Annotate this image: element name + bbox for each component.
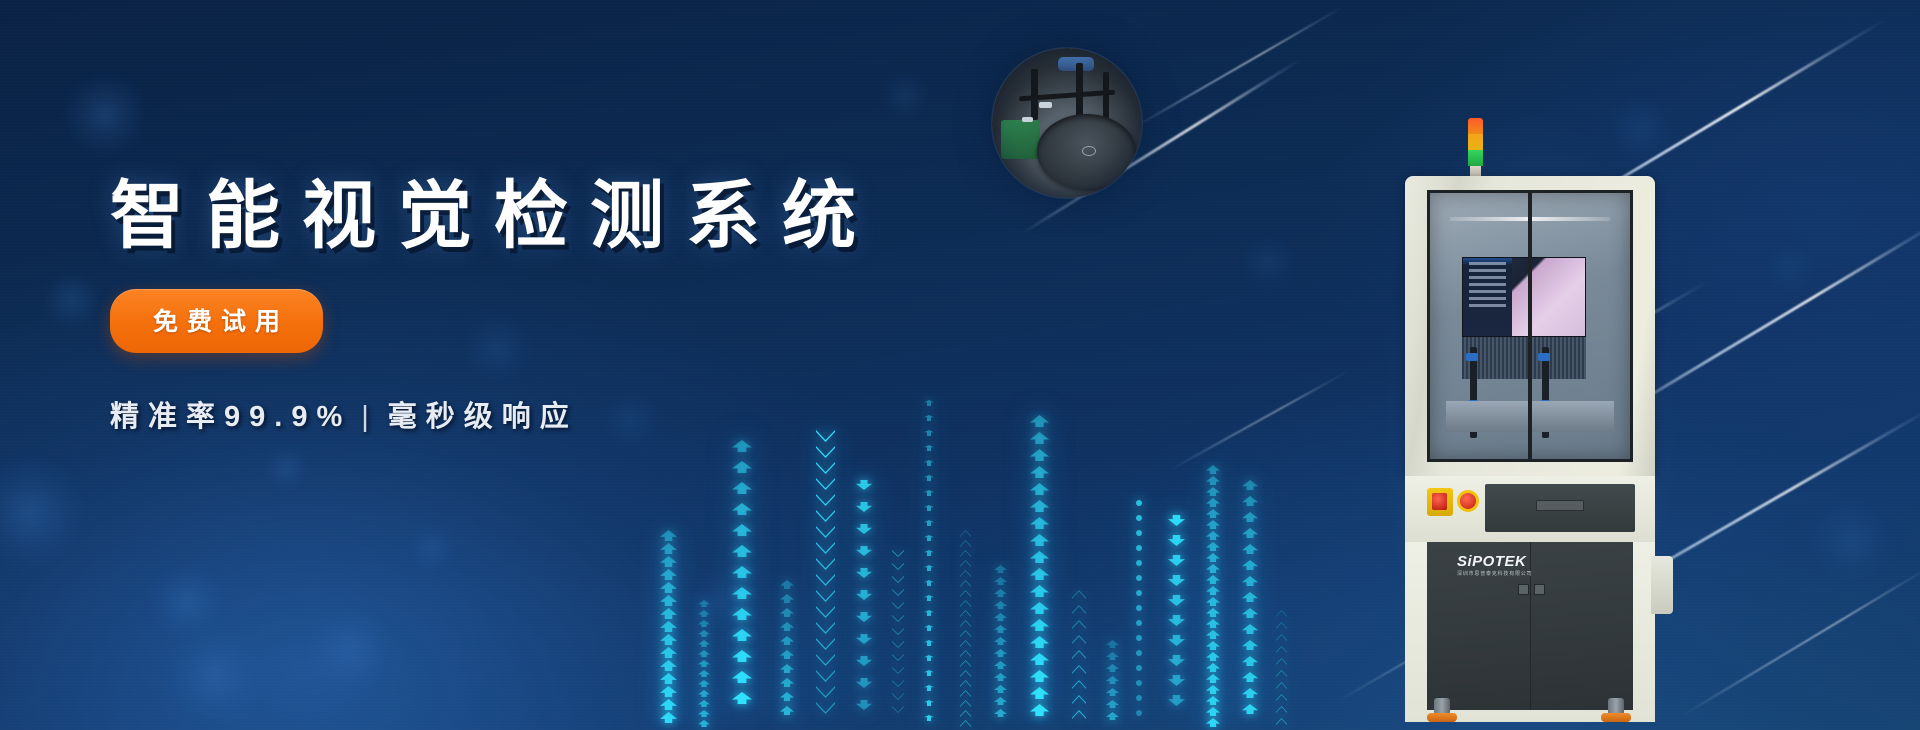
arrow-glyph [780, 608, 794, 617]
arrow-glyph [660, 530, 677, 541]
arrow-glyph [1242, 672, 1258, 682]
response-feature: 毫秒级响应 [388, 401, 578, 433]
arrow-glyph [1106, 664, 1119, 672]
arrow-glyph [1030, 432, 1049, 444]
arrow-glyph [816, 526, 835, 538]
control-panel [1405, 476, 1655, 542]
arrow-glyph [816, 478, 835, 490]
arrow-glyph [1206, 696, 1220, 705]
arrow-glyph [732, 587, 752, 599]
arrow-glyph [924, 655, 934, 661]
machine-cabinet: SiPOTEK 深圳市思普泰克科技有限公司 [1405, 542, 1655, 722]
tower-light-amber [1468, 134, 1483, 150]
machine-upper-frame [1405, 176, 1655, 476]
arrow-glyph [960, 570, 971, 577]
arrow-glyph [960, 690, 971, 697]
arrow-glyph [1206, 553, 1220, 562]
arrow-glyph [1106, 652, 1119, 660]
arrow-glyph [698, 600, 710, 607]
arrow-glyph [892, 641, 904, 648]
arrow-glyph [732, 482, 752, 494]
inset-vignette [992, 48, 1142, 198]
arrow-glyph [856, 480, 872, 490]
arrow-glyph [780, 678, 794, 687]
arrow-glyph [1030, 602, 1049, 614]
arrow-column [816, 430, 835, 730]
arrow-glyph [1242, 704, 1258, 714]
arrow-glyph [816, 574, 835, 586]
arrow-glyph [1276, 706, 1287, 713]
arrow-glyph [924, 610, 934, 616]
bokeh-dot [162, 624, 266, 728]
arrow-glyph [994, 565, 1007, 573]
arrow-glyph [856, 656, 872, 666]
door-handle-right[interactable] [1534, 584, 1545, 595]
arrow-glyph [892, 615, 904, 622]
arrow-glyph [960, 610, 971, 617]
dot-marker [1136, 680, 1142, 686]
arrow-glyph [816, 702, 835, 714]
arrow-glyph [1276, 718, 1287, 725]
arrow-glyph [698, 620, 710, 627]
arrow-glyph [780, 580, 794, 589]
arrow-column [892, 550, 904, 730]
arrow-glyph [732, 524, 752, 536]
arrow-glyph [960, 670, 971, 677]
arrow-glyph [698, 650, 710, 657]
arrow-column [1276, 610, 1287, 730]
arrow-glyph [924, 595, 934, 601]
arrow-column [856, 480, 872, 730]
arrow-glyph [1168, 535, 1185, 546]
arrow-glyph [698, 700, 710, 707]
arrow-glyph [856, 568, 872, 578]
arrow-glyph [1206, 564, 1220, 573]
arrow-glyph [1206, 586, 1220, 595]
arrow-glyph [732, 566, 752, 578]
arrow-glyph [816, 622, 835, 634]
dot-marker [1136, 620, 1142, 626]
arrow-glyph [660, 660, 677, 671]
arrow-glyph [780, 650, 794, 659]
arrow-glyph [892, 550, 904, 557]
arrow-glyph [780, 692, 794, 701]
arrow-glyph [1276, 670, 1287, 677]
arrow-glyph [960, 710, 971, 717]
arrow-glyph [660, 543, 677, 554]
arrow-glyph [732, 692, 752, 704]
arrow-glyph [1106, 700, 1119, 708]
arrow-glyph [1072, 695, 1086, 704]
arrow-glyph [994, 613, 1007, 621]
arrow-glyph [924, 700, 934, 706]
dot-marker [1136, 635, 1142, 641]
dot-marker [1136, 500, 1142, 506]
accuracy-metric: 精准率99.9% [110, 401, 351, 433]
arrow-glyph [960, 680, 971, 687]
arrow-glyph [732, 545, 752, 557]
dot-marker [1136, 605, 1142, 611]
arrow-glyph [960, 720, 971, 727]
bokeh-dot [148, 562, 228, 642]
arrow-glyph [1206, 608, 1220, 617]
arrow-glyph [960, 620, 971, 627]
light-streak [1679, 562, 1920, 719]
arrow-glyph [1030, 449, 1049, 461]
arrow-glyph [1206, 619, 1220, 628]
arrow-glyph [698, 720, 710, 727]
arrow-glyph [1242, 640, 1258, 650]
arrow-glyph [892, 667, 904, 674]
tower-light-red [1468, 118, 1483, 134]
arrow-glyph [924, 475, 934, 481]
arrow-glyph [1242, 544, 1258, 554]
arrow-glyph [660, 647, 677, 658]
arrow-glyph [856, 678, 872, 688]
foot-pad-left [1427, 713, 1457, 722]
arrow-glyph [892, 563, 904, 570]
dot-marker [1136, 650, 1142, 656]
arrow-glyph [780, 636, 794, 645]
arrow-glyph [816, 686, 835, 698]
arrow-glyph [960, 580, 971, 587]
arrow-glyph [1206, 652, 1220, 661]
arrow-glyph [1242, 688, 1258, 698]
arrow-glyph [816, 654, 835, 666]
arrow-glyph [698, 640, 710, 647]
arrow-glyph [1168, 595, 1185, 606]
arrow-glyph [1242, 528, 1258, 538]
camera-mount-right [1538, 353, 1550, 361]
arrow-glyph [1276, 622, 1287, 629]
dot-marker [1136, 560, 1142, 566]
arrow-glyph [892, 589, 904, 596]
window-mullion [1528, 193, 1532, 459]
arrow-glyph [816, 558, 835, 570]
arrow-glyph [1072, 665, 1086, 674]
arrow-glyph [924, 670, 934, 676]
free-trial-button[interactable]: 免费试用 [110, 289, 323, 353]
control-rack [1462, 337, 1586, 380]
arrow-glyph [1072, 680, 1086, 689]
arrow-glyph [1030, 517, 1049, 529]
arrow-glyph [1168, 515, 1185, 526]
arrow-glyph [660, 595, 677, 606]
light-streak [1168, 368, 1353, 472]
arrow-glyph [780, 622, 794, 631]
arrow-glyph [924, 430, 934, 436]
arrow-column [1206, 465, 1220, 730]
arrow-glyph [960, 630, 971, 637]
arrow-glyph [924, 490, 934, 496]
arrow-glyph [732, 461, 752, 473]
arrow-glyph [1206, 476, 1220, 485]
arrow-glyph [856, 546, 872, 556]
arrow-column [924, 400, 934, 730]
arrow-glyph [960, 550, 971, 557]
arrow-glyph [994, 649, 1007, 657]
arrow-glyph [1072, 590, 1086, 599]
arrow-glyph [1206, 498, 1220, 507]
arrow-glyph [660, 621, 677, 632]
arrow-glyph [660, 699, 677, 710]
arrow-glyph [924, 625, 934, 631]
arrow-glyph [1030, 551, 1049, 563]
arrow-glyph [924, 535, 934, 541]
arrow-glyph [856, 612, 872, 622]
arrow-glyph [960, 540, 971, 547]
foot-pad-right [1601, 713, 1631, 722]
arrow-glyph [1206, 663, 1220, 672]
arrow-glyph [892, 706, 904, 713]
arrow-glyph [1206, 520, 1220, 529]
arrow-glyph [924, 580, 934, 586]
dot-marker [1136, 695, 1142, 701]
arrow-column [660, 530, 677, 730]
arrow-column [1242, 480, 1258, 730]
arrow-glyph [1030, 670, 1049, 682]
dot-marker [1136, 590, 1142, 596]
arrow-glyph [1030, 415, 1049, 427]
arrow-glyph [994, 625, 1007, 633]
reset-button-box[interactable] [1427, 488, 1453, 516]
arrow-glyph [1276, 658, 1287, 665]
bokeh-dot [1808, 496, 1896, 584]
brand-logo-subtitle: 深圳市思普泰克科技有限公司 [1457, 570, 1532, 577]
bokeh-dot [1764, 242, 1816, 294]
arrow-glyph [994, 685, 1007, 693]
emergency-stop-button[interactable] [1457, 490, 1479, 512]
arrow-glyph [994, 637, 1007, 645]
hmi-monitor [1462, 257, 1586, 337]
arrow-glyph [1206, 641, 1220, 650]
arrow-glyph [856, 590, 872, 600]
arrow-glyph [780, 594, 794, 603]
arrow-column [960, 530, 971, 730]
side-access-tab [1651, 556, 1673, 614]
bokeh-dot [63, 73, 147, 157]
arrow-glyph [1276, 634, 1287, 641]
dot-marker [1136, 710, 1142, 716]
arrow-glyph [1168, 555, 1185, 566]
door-handle-left[interactable] [1518, 584, 1529, 595]
bokeh-dot [0, 454, 88, 570]
arrow-glyph [960, 650, 971, 657]
arrow-glyph [892, 576, 904, 583]
brand-logo: SiPOTEK [1457, 553, 1526, 570]
door-split-line [1530, 542, 1531, 710]
arrow-glyph [732, 650, 752, 662]
arrow-glyph [732, 608, 752, 620]
panel-faceplate [1485, 484, 1635, 532]
arrow-glyph [856, 700, 872, 710]
arrow-glyph [892, 693, 904, 700]
dot-marker [1136, 575, 1142, 581]
arrow-glyph [1206, 531, 1220, 540]
arrow-glyph [1206, 707, 1220, 716]
subtitle-divider: | [351, 401, 388, 433]
arrow-glyph [1168, 655, 1185, 666]
arrow-glyph [892, 602, 904, 609]
arrow-glyph [960, 530, 971, 537]
arrow-glyph [816, 638, 835, 650]
arrow-glyph [856, 502, 872, 512]
arrow-glyph [924, 415, 934, 421]
arrow-glyph [732, 503, 752, 515]
arrow-glyph [1242, 560, 1258, 570]
arrow-glyph [816, 606, 835, 618]
arrow-glyph [1030, 534, 1049, 546]
arrow-glyph [892, 654, 904, 661]
arrow-glyph [856, 634, 872, 644]
arrow-glyph [960, 590, 971, 597]
arrow-column [1072, 590, 1086, 730]
arrow-glyph [960, 660, 971, 667]
arrow-glyph [924, 520, 934, 526]
arrow-glyph [698, 610, 710, 617]
arrow-glyph [1276, 682, 1287, 689]
arrow-glyph [1206, 509, 1220, 518]
arrow-glyph [1168, 615, 1185, 626]
arrow-glyph [1030, 483, 1049, 495]
arrow-glyph [816, 542, 835, 554]
product-machine: SiPOTEK 深圳市思普泰克科技有限公司 [1405, 118, 1715, 708]
arrow-glyph [1106, 676, 1119, 684]
inset-photo-turntable [992, 48, 1142, 198]
tower-light-green [1468, 150, 1483, 166]
hero-subtitle: 精准率99.9%|毫秒级响应 [110, 393, 878, 435]
cabinet-doors[interactable]: SiPOTEK 深圳市思普泰克科技有限公司 [1427, 542, 1633, 710]
arrow-glyph [1276, 694, 1287, 701]
hero-copy: 智能视觉检测系统 免费试用 精准率99.9%|毫秒级响应 [110, 178, 878, 435]
signal-tower-light [1468, 118, 1483, 180]
dot-marker [1136, 545, 1142, 551]
turntable-photo [992, 48, 1142, 198]
arrow-glyph [924, 685, 934, 691]
camera-mount-left [1466, 353, 1478, 361]
arrow-glyph [924, 550, 934, 556]
arrow-glyph [924, 715, 934, 721]
arrow-glyph [960, 700, 971, 707]
arrow-glyph [1030, 585, 1049, 597]
bokeh-dot [406, 522, 458, 574]
dot-marker [1136, 515, 1142, 521]
arrow-glyph [994, 697, 1007, 705]
arrow-glyph [698, 710, 710, 717]
arrow-glyph [1168, 675, 1185, 686]
bokeh-dot [1238, 232, 1298, 292]
arrow-glyph [1242, 624, 1258, 634]
arrow-glyph [816, 510, 835, 522]
arrow-glyph [856, 524, 872, 534]
arrow-glyph [1030, 687, 1049, 699]
hero-banner: SiPOTEK 深圳市思普泰克科技有限公司 智能视觉检测系统 免费试用 精准率9… [0, 0, 1920, 730]
arrow-glyph [732, 629, 752, 641]
arrow-glyph [1168, 695, 1185, 706]
arrow-glyph [1030, 500, 1049, 512]
arrow-glyph [1072, 710, 1086, 719]
arrow-glyph [732, 440, 752, 452]
arrow-glyph [1206, 630, 1220, 639]
arrow-glyph [816, 590, 835, 602]
arrow-glyph [780, 706, 794, 715]
arrow-glyph [924, 505, 934, 511]
arrow-column [698, 600, 710, 730]
arrow-glyph [960, 640, 971, 647]
arrow-glyph [1030, 466, 1049, 478]
machine-body: SiPOTEK 深圳市思普泰克科技有限公司 [1405, 176, 1655, 668]
bokeh-dot [879, 70, 931, 122]
arrow-glyph [698, 660, 710, 667]
arrow-glyph [1106, 640, 1119, 648]
arrow-column [1106, 640, 1119, 730]
arrow-glyph [1072, 620, 1086, 629]
arrow-glyph [1206, 487, 1220, 496]
arrow-glyph [1072, 605, 1086, 614]
arrow-glyph [732, 671, 752, 683]
arrow-glyph [924, 445, 934, 451]
arrow-glyph [816, 670, 835, 682]
arrow-glyph [660, 673, 677, 684]
arrow-glyph [660, 686, 677, 697]
arrow-glyph [1242, 608, 1258, 618]
arrow-glyph [1242, 656, 1258, 666]
arrow-glyph [698, 690, 710, 697]
arrow-glyph [660, 556, 677, 567]
arrow-glyph [892, 628, 904, 635]
arrow-glyph [892, 680, 904, 687]
arrow-glyph [1206, 465, 1220, 474]
arrow-glyph [924, 565, 934, 571]
arrow-glyph [1030, 653, 1049, 665]
arrow-glyph [1206, 674, 1220, 683]
arrow-glyph [660, 634, 677, 645]
leveling-foot-right [1601, 696, 1631, 722]
arrow-glyph [1242, 496, 1258, 506]
inspection-window [1427, 190, 1633, 462]
dot-marker [1136, 530, 1142, 536]
bokeh-dot [304, 604, 396, 696]
arrow-glyph [816, 446, 835, 458]
arrow-column [732, 440, 752, 730]
arrow-glyph [1030, 636, 1049, 648]
arrow-column [1030, 415, 1049, 730]
arrow-glyph [924, 640, 934, 646]
arrow-glyph [1242, 480, 1258, 490]
arrow-glyph [1206, 597, 1220, 606]
arrow-glyph [1030, 619, 1049, 631]
arrow-glyph [660, 608, 677, 619]
arrow-glyph [660, 582, 677, 593]
arrow-column [1168, 515, 1185, 730]
bokeh-dot [42, 270, 102, 330]
arrow-glyph [660, 712, 677, 723]
arrow-glyph [1168, 635, 1185, 646]
arrow-glyph [1072, 635, 1086, 644]
arrow-glyph [780, 664, 794, 673]
arrow-glyph [1106, 712, 1119, 720]
arrow-glyph [660, 569, 677, 580]
bokeh-dot [686, 566, 754, 634]
arrow-glyph [1030, 704, 1049, 716]
panel-slot [1536, 500, 1584, 511]
arrow-glyph [1242, 592, 1258, 602]
monitor-sidebar [1463, 258, 1512, 336]
arrow-column [780, 580, 794, 730]
arrow-glyph [994, 661, 1007, 669]
arrow-glyph [698, 680, 710, 687]
arrow-column [1136, 500, 1142, 730]
